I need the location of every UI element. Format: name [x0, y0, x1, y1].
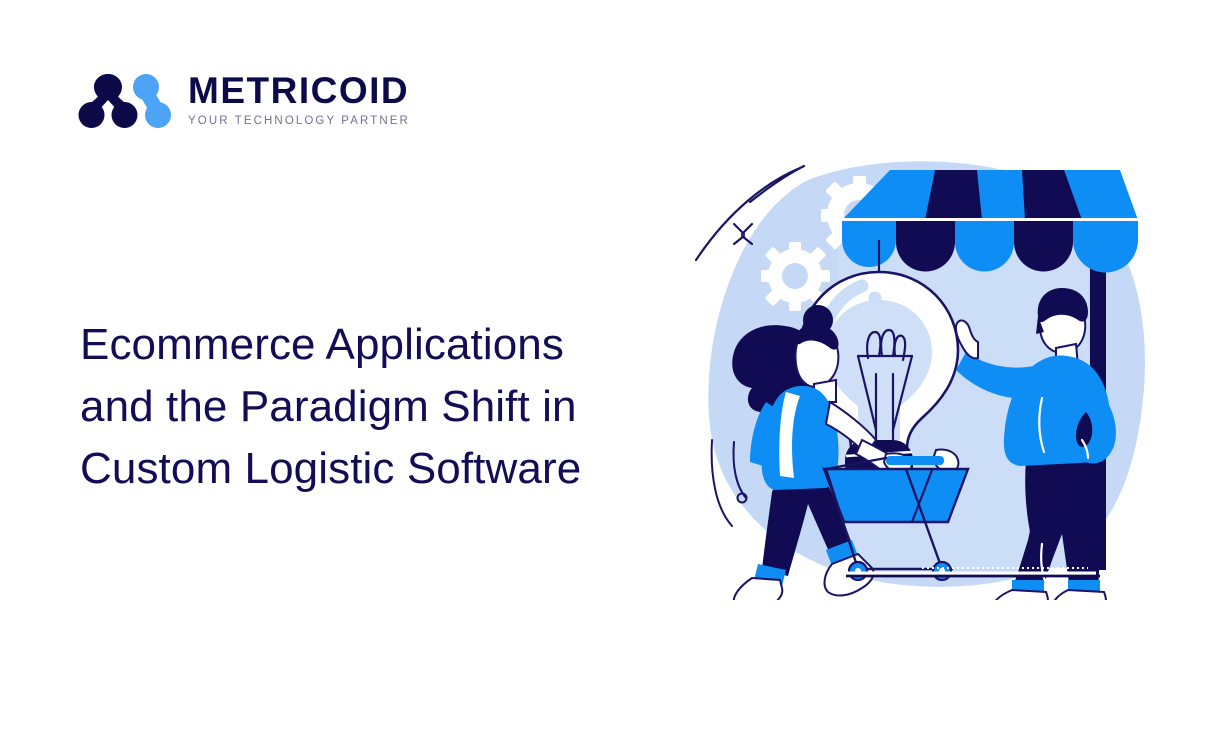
storefront-awning	[842, 170, 1138, 273]
sparkle-icon	[734, 224, 752, 244]
metricoid-molecule-icon	[78, 68, 174, 132]
illustration-svg	[690, 140, 1150, 600]
logo[interactable]: METRICOID YOUR TECHNOLOGY PARTNER	[78, 68, 410, 132]
headline-line-3: Custom Logistic Software	[80, 438, 620, 500]
logo-text: METRICOID YOUR TECHNOLOGY PARTNER	[188, 72, 410, 128]
ecommerce-storefront-illustration	[690, 140, 1150, 600]
logo-tagline: YOUR TECHNOLOGY PARTNER	[188, 116, 410, 128]
headline-line-1: Ecommerce Applications	[80, 314, 620, 376]
headline-line-2: and the Paradigm Shift in	[80, 376, 620, 438]
banner: METRICOID YOUR TECHNOLOGY PARTNER Ecomme…	[0, 0, 1227, 755]
page-title: Ecommerce Applications and the Paradigm …	[80, 314, 620, 500]
logo-wordmark: METRICOID	[188, 72, 410, 109]
